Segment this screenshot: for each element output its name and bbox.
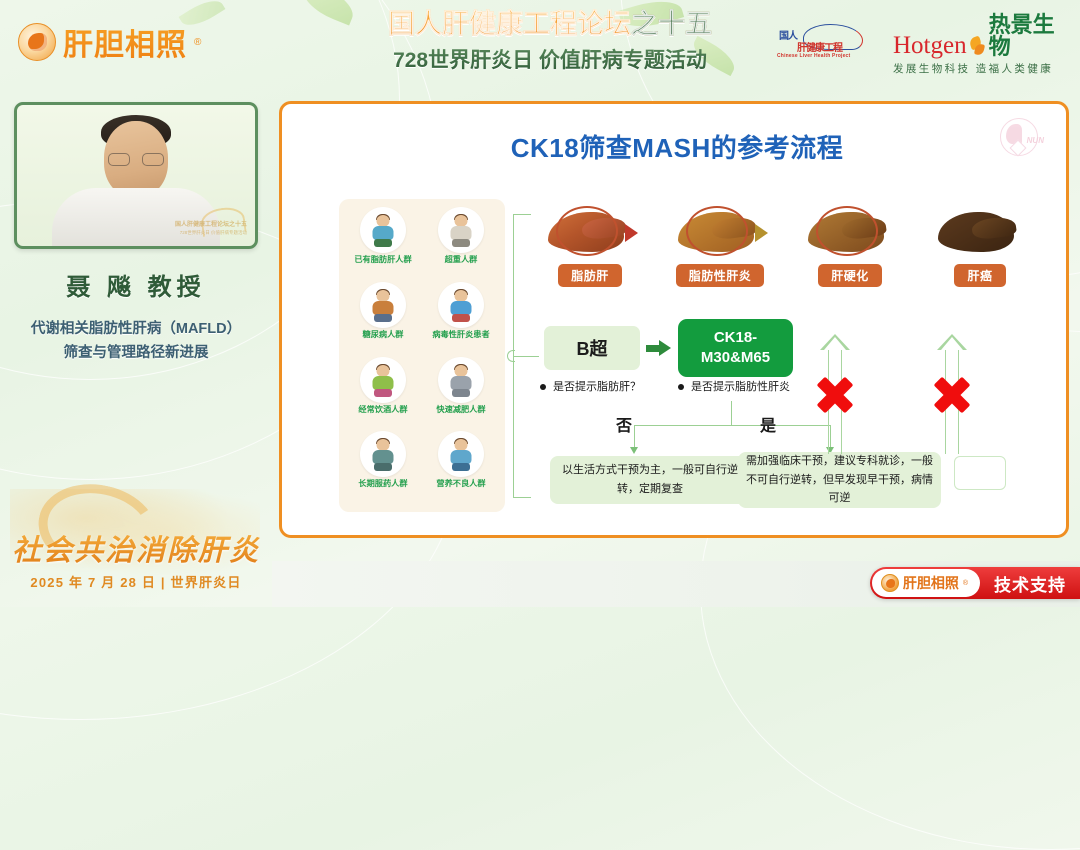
speaker-topic-line2: 筛查与管理路径新进展 — [12, 342, 260, 366]
brand-registered-mark: ® — [194, 37, 201, 48]
stage-label: 肝硬化 — [818, 264, 882, 287]
viral-hepatitis-patient-icon — [438, 282, 484, 328]
video-watermark-line1: 国人肝健康工程论坛之十五 — [175, 219, 247, 228]
risk-group-item: 病毒性肝炎患者 — [423, 282, 499, 355]
brand-logo: 肝胆相照 ® — [18, 20, 201, 64]
risk-group-label: 糖尿病人群 — [347, 330, 419, 339]
butterfly-icon — [970, 36, 986, 56]
malnutrition-icon — [438, 431, 484, 477]
outcome-no: 以生活方式干预为主，一般可自行逆转，定期复查 — [550, 456, 750, 504]
step-ultrasound: B超 — [544, 326, 640, 370]
speaker-video-tile[interactable]: 国人肝健康工程论坛之十五 728世界肝炎日 价值肝病专题活动 — [14, 102, 258, 249]
disease-stage: 脂肪肝 — [531, 204, 649, 287]
event-subtitle: 728世界肝炎日 价值肝病专题活动 — [350, 44, 750, 74]
disease-stage: 肝癌 — [921, 204, 1039, 287]
speaker-sidebar: 国人肝健康工程论坛之十五 728世界肝炎日 价值肝病专题活动 聂 飚 教授 代谢… — [0, 94, 272, 607]
risk-group-label: 病毒性肝炎患者 — [425, 330, 497, 339]
steatohepatitis-liver-icon — [672, 204, 768, 260]
bullet-ultrasound-text: 是否提示脂肪肝？ — [553, 380, 641, 396]
risk-group-item: 营养不良人群 — [423, 431, 499, 504]
sidebar-footer: 社会共治消除肝炎 2025 年 7 月 28 日 | 世界肝炎日 — [0, 489, 272, 607]
fatty-liver-person-icon — [360, 207, 406, 253]
cirrhosis-liver-icon — [802, 204, 898, 260]
chinese-liver-health-project-logo: 国人 肝健康工程 Chinese Liver Health Project — [775, 22, 879, 70]
overweight-person-icon — [438, 207, 484, 253]
event-title-suffix: 之十五 — [631, 9, 712, 39]
disease-stage: 脂肪性肝炎 — [661, 204, 779, 287]
stage-label: 脂肪性肝炎 — [676, 264, 765, 287]
branch-label-no: 否 — [616, 412, 632, 436]
stage-label: 肝癌 — [954, 264, 1005, 287]
sponsor-logo: Hotgen 热景生物 发展生物科技 造福人类健康 — [893, 14, 1073, 76]
speaker-topic-line1: 代谢相关脂肪性肝病（MAFLD） — [12, 318, 260, 342]
bullet-ck18: 是否提示脂肪性肝炎 — [678, 380, 798, 396]
risk-group-panel: 已有脂肪肝人群 超重人群 糖尿病人群 病毒性肝炎患者 经常饮酒人群 快速减肥人群 — [339, 199, 505, 512]
campaign-slogan: 社会共治消除肝炎 — [0, 527, 272, 569]
outcome-stub-box — [954, 456, 1006, 490]
tech-support-brand: 肝胆相照 ® — [872, 569, 980, 597]
bottom-bar: 肝胆相照 ® 技术支持 — [272, 561, 1080, 607]
tech-support-brand-name: 肝胆相照 — [903, 573, 959, 593]
risk-group-label: 快速减肥人群 — [425, 405, 497, 414]
page-header: 肝胆相照 ® 国人肝健康工程论坛之十五 728世界肝炎日 价值肝病专题活动 国人… — [0, 0, 1080, 94]
liver-logo-icon — [18, 23, 56, 61]
risk-group-label: 营养不良人群 — [425, 479, 497, 488]
brand-name: 肝胆相照 — [63, 20, 187, 64]
branch-label-yes: 是 — [760, 412, 776, 436]
tech-support-badge: 肝胆相照 ® 技术支持 — [870, 567, 1080, 599]
clhp-cn-top: 国人 — [779, 27, 797, 42]
speaker-name: 聂 飚 教授 — [0, 267, 272, 302]
stage-label: 脂肪肝 — [558, 264, 622, 287]
speaker-topic: 代谢相关脂肪性肝病（MAFLD） 筛查与管理路径新进展 — [12, 318, 260, 366]
diabetes-person-icon — [360, 282, 406, 328]
sponsor-name-en: Hotgen — [893, 33, 967, 58]
step-ck18-test: CK18-M30&M65 — [678, 319, 793, 377]
outcome-yes: 需加强临床干预，建议专科就诊，一般不可自行逆转，但早发现早干预，病情可逆 — [738, 452, 941, 508]
presentation-slide[interactable]: NUN CK18筛查MASH的参考流程 已有脂肪肝人群 超重人群 糖尿病人群 病… — [279, 101, 1069, 538]
risk-group-label: 经常饮酒人群 — [347, 405, 419, 414]
risk-group-item: 长期服药人群 — [345, 431, 421, 504]
liver-cancer-icon — [932, 204, 1028, 260]
video-watermark-line2: 728世界肝炎日 价值肝病专题活动 — [180, 230, 247, 236]
video-watermark: 国人肝健康工程论坛之十五 728世界肝炎日 价值肝病专题活动 — [191, 208, 249, 238]
campaign-date: 2025 年 7 月 28 日 | 世界肝炎日 — [0, 572, 272, 591]
disease-stage-row: 脂肪肝 脂肪性肝炎 肝硬化 肝癌 — [527, 204, 1057, 300]
red-x-icon — [814, 374, 856, 416]
event-title-block: 国人肝健康工程论坛之十五 728世界肝炎日 价值肝病专题活动 — [350, 8, 750, 74]
bullet-ultrasound: 是否提示脂肪肝？ — [540, 380, 660, 396]
risk-group-item: 糖尿病人群 — [345, 282, 421, 355]
long-term-medication-icon — [360, 431, 406, 477]
portrait-glasses — [108, 153, 164, 166]
disease-stage: 肝硬化 — [791, 204, 909, 287]
red-x-icon — [931, 374, 973, 416]
risk-group-label: 已有脂肪肝人群 — [347, 255, 419, 264]
bullet-dot-icon — [678, 384, 684, 390]
risk-group-item: 已有脂肪肝人群 — [345, 207, 421, 280]
rapid-weight-loss-icon — [438, 357, 484, 403]
risk-group-item: 快速减肥人群 — [423, 357, 499, 430]
risk-group-label: 长期服药人群 — [347, 479, 419, 488]
fatty-liver-icon — [542, 204, 638, 260]
clhp-en-text: Chinese Liver Health Project — [777, 53, 850, 59]
bullet-ck18-text: 是否提示脂肪性肝炎 — [691, 380, 790, 396]
sponsor-name-cn: 热景生物 — [989, 14, 1073, 58]
event-title-main: 国人肝健康工程论坛 — [388, 9, 631, 39]
sponsor-tagline: 发展生物科技 造福人类健康 — [893, 61, 1073, 76]
tech-support-registered-mark: ® — [963, 580, 968, 587]
alcohol-drinker-icon — [360, 357, 406, 403]
risk-group-item: 超重人群 — [423, 207, 499, 280]
liver-logo-icon — [881, 574, 899, 592]
arrow-right-icon — [646, 340, 672, 356]
tech-support-label: 技术支持 — [980, 567, 1080, 599]
bullet-dot-icon — [540, 384, 546, 390]
blocked-progression-1 — [820, 334, 850, 454]
risk-group-label: 超重人群 — [425, 255, 497, 264]
risk-group-item: 经常饮酒人群 — [345, 357, 421, 430]
clhp-cn-bottom: 肝健康工程 — [797, 39, 842, 54]
event-title: 国人肝健康工程论坛之十五 — [350, 8, 750, 42]
blocked-progression-2 — [937, 334, 967, 454]
slide-title: CK18筛查MASH的参考流程 — [282, 128, 1069, 165]
